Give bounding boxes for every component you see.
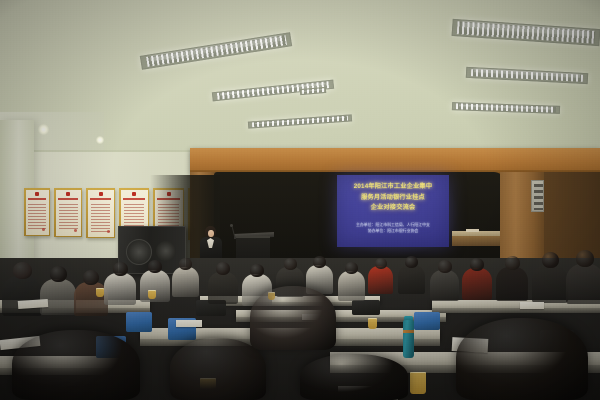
audience-member-18 [566,250,600,307]
audience-member-4 [104,262,136,308]
audience-member-torso [338,271,365,301]
certificate-emblem-icon [99,192,103,196]
certificate-title-band [90,198,111,200]
slide-title-line-1: 2014年阳江市工业企业集中 [341,182,445,193]
slide-title: 2014年阳江市工业企业集中 服务月活动银行业挂点 企业对接交流会 [341,182,445,214]
slide-organizers: 主办单位：阳江市科工信局、人行阳江中支 协办单位：阳江市银行业协会 [342,222,444,235]
certificate-body-text [91,204,111,232]
audience-member-torso [104,273,136,305]
audience-member-head [50,266,67,282]
audience-member-torso [172,267,199,297]
foreground-person-5 [250,286,336,350]
certificate-frame-2 [54,188,82,237]
certificate-emblem-icon [66,192,70,196]
audience-member-torso [462,268,492,300]
foreground-person-1 [12,330,140,400]
audience-member-torso [532,265,568,303]
slide-title-line-2: 服务月活动银行业挂点 [341,193,445,204]
wall-mounted-speaker [531,180,544,212]
certificate-body-text [59,204,78,232]
audience-member-17 [532,252,568,306]
certificate-frame-1 [24,188,50,236]
audience-member-head [576,250,594,267]
audience-member-torso [398,265,425,294]
audience-member-7 [208,262,238,307]
audience-member-head [505,256,520,270]
certificate-title-band [58,198,78,200]
cup-3 [368,318,377,329]
certificate-seal-icon [107,230,110,233]
foreground-person-3 [300,354,408,400]
cup-6-foreground [410,372,426,394]
microphone-icon [230,224,233,227]
stage-side-table [452,236,500,246]
audience-member-head [216,262,230,275]
recessed-downlight-1 [38,124,49,135]
light-louver-grille [302,88,325,93]
audience-member-head [345,262,358,274]
certificate-title-band [123,198,145,200]
certificate-emblem-icon [35,192,39,196]
certificate-seal-icon [42,228,45,231]
stage-table-paper [466,229,479,232]
slide-title-line-3: 企业对接交流会 [341,203,445,214]
certificate-emblem-icon [132,192,136,196]
presenter-face [208,230,214,237]
audience-member-torso [2,276,42,316]
certificate-frame-3 [86,188,115,238]
audience-member-head [250,264,264,277]
cup-1 [96,288,104,297]
audience-member-head [113,262,128,276]
audience-member-torso [368,266,393,294]
audience-member-head [148,260,162,273]
audience-member-torso [496,267,528,301]
certificate-paper [56,190,81,236]
certificate-seal-icon [74,229,77,232]
audience-member-head [179,258,192,270]
paper-2 [176,320,202,327]
speaker-grille [534,184,543,210]
thermos-flask [403,320,414,358]
audience-member-torso [430,270,459,301]
audience-member-torso [40,279,76,315]
audience-member-head [375,258,387,269]
cup-2 [148,290,156,299]
foreground-person-4 [456,318,588,400]
audience-member-14 [430,260,459,304]
certificate-paper [26,190,49,235]
audience-member-head [83,270,99,285]
audience-member-11 [338,262,365,304]
audience-member-5 [140,260,170,305]
audience-member-15 [462,258,492,303]
audience-member-head [542,252,559,268]
slide-organizer-line-2: 协办单位：阳江市银行业协会 [342,228,444,234]
paper-5 [520,302,544,309]
audience-member-6 [172,258,199,300]
chair-blue-4 [414,312,440,330]
audience-member-head [438,260,452,273]
certificate-title-band [28,198,46,200]
audience-member-head [284,258,297,270]
audience-member-head [405,256,418,268]
audience-member-head [313,256,326,268]
audience-member-head [470,258,484,271]
audience-member-13 [398,256,425,297]
chair-blue-1 [126,312,152,332]
audience-member-torso [208,272,238,304]
projection-screen: 2014年阳江市工业企业集中 服务月活动银行业挂点 企业对接交流会 主办单位：阳… [337,175,449,247]
conference-hall-photograph: 2014年阳江市工业企业集中 服务月活动银行业挂点 企业对接交流会 主办单位：阳… [0,0,600,400]
recessed-downlight-2 [96,136,104,144]
audience-member-12 [368,258,393,297]
audience-member-2 [40,266,76,318]
certificate-paper [88,190,114,237]
desk-row-right-mid-edge [432,308,600,313]
audience-member-16 [496,256,528,304]
audience-member-1 [2,262,42,319]
thermos-band [403,330,414,333]
certificate-body-text [28,204,45,231]
audience-member-torso [566,264,600,304]
audience-member-head [13,262,32,279]
foreground-person-2 [170,338,266,400]
